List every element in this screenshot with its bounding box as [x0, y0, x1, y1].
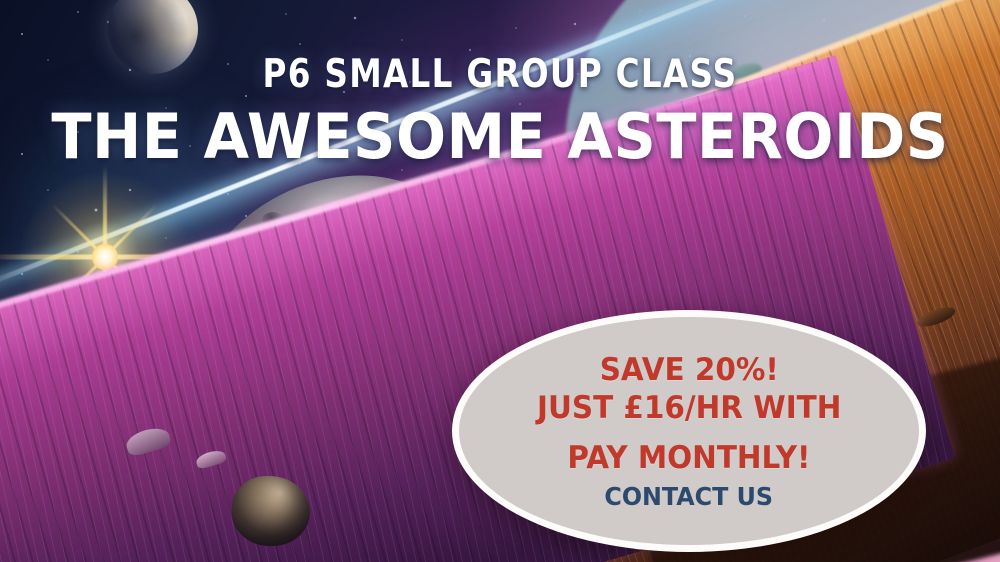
promo-monthly-line: PAY MONTHLY!: [567, 440, 810, 476]
contact-us-cta[interactable]: CONTACT US: [605, 482, 774, 511]
kicker-text: P6 SMALL GROUP CLASS: [35, 52, 965, 97]
promo-price-line: JUST £16/HR WITH: [537, 390, 841, 426]
heading-block: P6 SMALL GROUP CLASS THE AWESOME ASTEROI…: [0, 0, 1000, 168]
promo-badge[interactable]: SAVE 20%! JUST £16/HR WITH PAY MONTHLY! …: [452, 310, 926, 552]
promo-save-line: SAVE 20%!: [599, 352, 778, 388]
promo-poster: P6 SMALL GROUP CLASS THE AWESOME ASTEROI…: [0, 0, 1000, 562]
page-title: THE AWESOME ASTEROIDS: [25, 105, 975, 168]
ridge-boulder: [232, 476, 310, 546]
starburst-ray: [0, 255, 105, 260]
